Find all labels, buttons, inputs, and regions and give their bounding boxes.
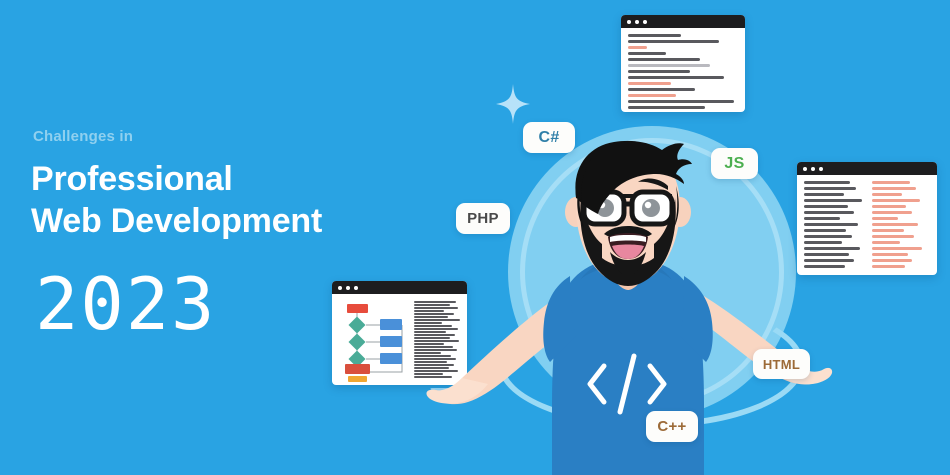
code-lines [621, 28, 745, 112]
code-line [628, 34, 681, 37]
code-line [872, 199, 920, 202]
code-line [872, 235, 914, 238]
tech-badge-c[interactable]: C# [523, 122, 575, 153]
code-window-top[interactable] [621, 15, 745, 112]
code-line [872, 259, 912, 262]
code-line [872, 193, 902, 196]
flowchart-diagram [339, 300, 409, 385]
tech-badge-html[interactable]: HTML [753, 349, 810, 379]
code-line [872, 241, 900, 244]
year-text: 2023 [35, 268, 216, 340]
code-line [872, 223, 918, 226]
window-dot-icon [354, 286, 358, 290]
title-line-1: Professional [31, 160, 233, 198]
window-dot-icon [643, 20, 647, 24]
page-title: Professional Web Development [31, 158, 431, 242]
code-line [628, 52, 666, 55]
code-line [628, 46, 647, 49]
window-dot-icon [338, 286, 342, 290]
code-line [872, 253, 908, 256]
code-line [628, 94, 676, 97]
tech-badge-js[interactable]: JS [711, 148, 758, 179]
code-line [628, 70, 690, 73]
window-titlebar [621, 15, 745, 28]
poster-canvas: Challenges in Professional Web Developme… [0, 0, 950, 475]
code-line [872, 187, 916, 190]
code-line [872, 247, 922, 250]
code-line [872, 211, 912, 214]
code-line [872, 265, 905, 268]
code-line [628, 40, 719, 43]
developer-avatar [418, 140, 838, 475]
title-line-2: Web Development [31, 200, 431, 242]
code-line [628, 88, 695, 91]
code-column-right [872, 181, 931, 271]
code-line [628, 58, 700, 61]
tech-badge-php[interactable]: PHP [456, 203, 510, 234]
headline-block: Challenges in Professional Web Developme… [0, 0, 420, 475]
window-dot-icon [346, 286, 350, 290]
window-dot-icon [635, 20, 639, 24]
code-line [872, 205, 906, 208]
code-line [628, 76, 724, 79]
code-line [628, 100, 734, 103]
window-dot-icon [627, 20, 631, 24]
code-line [872, 181, 910, 184]
tech-badge-c[interactable]: C++ [646, 411, 698, 442]
sparkle-star [496, 84, 530, 124]
code-line [872, 217, 898, 220]
code-line [628, 82, 671, 85]
code-line [872, 229, 904, 232]
code-line [628, 106, 705, 109]
code-line [628, 64, 710, 67]
kicker-text: Challenges in [33, 128, 133, 145]
